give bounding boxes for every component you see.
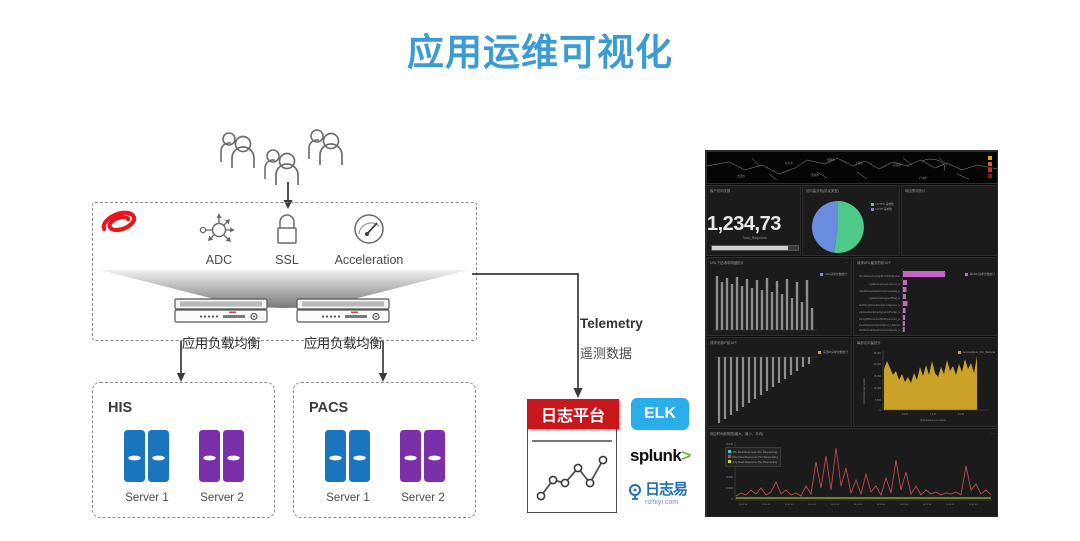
- zone-title-his: HIS: [108, 400, 132, 416]
- rizhiyi-logo: 日志易 rizhiyi.com: [628, 478, 687, 506]
- rack-appliance-icon: [295, 298, 391, 326]
- total-requests-sublabel: Total_Requests: [707, 236, 802, 240]
- svg-text:14:00:00: 14:00:00: [808, 504, 817, 506]
- server-pair-icon: [121, 428, 173, 484]
- svg-text:上海市: 上海市: [855, 161, 863, 165]
- padlock-icon: [272, 212, 302, 246]
- panel-scrollbar[interactable]: [711, 245, 799, 251]
- svg-text:/hdsAPI/restful/web/script/met: /hdsAPI/restful/web/script/metadata_js: [859, 290, 900, 293]
- traffic-area-panel[interactable]: 每秒访问量统计 25,00020,000 15,00010,000 5,0000…: [853, 337, 998, 427]
- top-uri-bar-panel[interactable]: 请求URL最多的前10个 /hdsAPI/restful/web/config/…: [853, 257, 998, 336]
- total-requests-value: 1,234,73: [707, 213, 802, 236]
- svg-text:13:45:00: 13:45:00: [739, 504, 748, 506]
- legend-item[interactable]: Connections_Per_Second: [958, 350, 995, 354]
- svg-text:14:35:00: 14:35:00: [969, 504, 978, 506]
- panel-title: 请求来源IP前10个: [710, 340, 737, 345]
- rizhiyi-label: 日志易: [645, 478, 687, 499]
- legend-item[interactable]: HTTPS 请求数: [871, 202, 894, 206]
- arrow-edge-to-pacs: [375, 341, 391, 383]
- panel-title: 访问量分布(协议类型): [806, 188, 839, 193]
- panel-title: 响应时间趋势图(最大、最小、平均): [710, 431, 763, 436]
- svg-text:/hdsAPI/restful/web/config/BUS: /hdsAPI/restful/web/config/BUSTEP/discov…: [859, 275, 900, 278]
- telemetry-label-en: Telemetry: [580, 316, 643, 331]
- user-group-left: [218, 130, 264, 170]
- rizhiyi-mark-icon: [628, 484, 643, 500]
- svg-text:/cgi/External/Login/APIflag_js: /cgi/External/Login/APIflag_js: [869, 297, 901, 300]
- legend-swatch: [728, 450, 731, 453]
- panel-title: URL下钻请求明细统计: [710, 260, 744, 265]
- client-ip-panel[interactable]: 请求来源IP前10个 来源IP请求次数统计: [706, 337, 852, 427]
- svg-text:50000: 50000: [726, 443, 734, 446]
- page-title: 应用运维可视化: [0, 22, 1080, 76]
- svg-text:14:15: 14:15: [930, 413, 937, 416]
- server-group-pacs-1: Server 1: [314, 428, 382, 504]
- traffic-area-chart[interactable]: 25,00020,000 15,00010,000 5,0000 Connect…: [857, 347, 997, 425]
- panel-menu-icon[interactable]: ⋯: [844, 260, 848, 265]
- top-uri-chart[interactable]: [902, 269, 956, 333]
- svg-text:14:30: 14:30: [958, 413, 965, 416]
- log-platform-badge[interactable]: 日志平台: [527, 399, 619, 429]
- svg-text:武汉市: 武汉市: [893, 163, 901, 167]
- panel-title: 客户访问次数: [710, 188, 730, 193]
- svg-text:Connections per second: Connections per second: [863, 377, 866, 403]
- svg-text:@timestamp per minute: @timestamp per minute: [920, 419, 946, 422]
- zone-title-pacs: PACS: [309, 400, 348, 416]
- svg-text:14:25:00: 14:25:00: [923, 504, 932, 506]
- rizhiyi-domain: rizhiyi.com: [645, 499, 687, 506]
- server-group-his-1: Server 1: [113, 428, 181, 504]
- server-pair-icon: [196, 428, 248, 484]
- panel-title: 请求URL最多的前10个: [857, 260, 891, 265]
- legend-label: Connections_Per_Second: [963, 350, 996, 354]
- server-label: Server 1: [113, 492, 181, 504]
- svg-text:北京市: 北京市: [785, 161, 793, 165]
- server-label: Server 2: [188, 492, 256, 504]
- svg-text:13:55:00: 13:55:00: [785, 504, 794, 506]
- svg-text:14:15:00: 14:15:00: [877, 504, 886, 506]
- legend-swatch: [958, 351, 961, 354]
- svg-text:广州市: 广州市: [919, 176, 927, 180]
- legend-label: URL请求次数统计: [825, 272, 847, 276]
- radware-swirl-logo: [97, 206, 141, 245]
- adc-node-arrows-icon: [199, 212, 239, 246]
- svg-text:沈阳市: 沈阳市: [827, 158, 835, 162]
- legend-item[interactable]: Max Real Response Per Requesting: [728, 455, 778, 459]
- pie-chart[interactable]: [810, 199, 866, 255]
- svg-text:15,000: 15,000: [874, 375, 882, 378]
- legend-swatch: [871, 208, 874, 211]
- splunk-label: splunk: [630, 446, 681, 465]
- total-requests-panel[interactable]: 客户访问次数 1,234,73 Total_Requests: [706, 185, 801, 256]
- svg-text:/hdsAPI/restful/web/script/web: /hdsAPI/restful/web/script/webtype/List/…: [859, 311, 901, 314]
- legend-label: 每URL请求次数统计: [970, 272, 995, 276]
- elk-badge[interactable]: ELK: [631, 398, 689, 430]
- server-pair-icon: [397, 428, 449, 484]
- server-pair-icon: [322, 428, 374, 484]
- legend-swatch: [871, 203, 874, 206]
- svg-text:/hdsAPI/restful/web/script/con: /hdsAPI/restful/web/script/config/site_j…: [859, 329, 901, 332]
- legend-label: Min Real Response Per Requesting: [733, 450, 777, 454]
- legend-item[interactable]: URL请求次数统计: [820, 272, 847, 276]
- telemetry-label-cn: 遥测数据: [580, 343, 632, 362]
- svg-text:/cgi/External/Login/access_js: /cgi/External/Login/access_js: [869, 283, 901, 286]
- server-label: Server 2: [389, 492, 457, 504]
- request-ratio-pie-panel[interactable]: 访问量分布(协议类型) HTTPS 请求数 HTTP 请求数: [802, 185, 900, 256]
- svg-text:25,000: 25,000: [874, 352, 882, 355]
- svg-text:14:10:00: 14:10:00: [854, 504, 863, 506]
- legend-swatch: [965, 273, 968, 276]
- panel-title: 响应情况统计: [905, 188, 925, 193]
- monitoring-dashboard[interactable]: 大连市北京市 济南市沈阳市 上海市武汉市 广州市 客户访问次数 1,234,73…: [705, 150, 998, 517]
- url-distribution-panel[interactable]: URL下钻请求明细统计 ⋯ URL请求次数统计: [706, 257, 852, 336]
- svg-text:0: 0: [732, 498, 734, 501]
- line-chart-window-icon: [527, 427, 617, 513]
- service-acceleration: Acceleration: [321, 212, 417, 267]
- panel-menu-icon[interactable]: ⋯: [991, 431, 995, 436]
- legend-item[interactable]: Avg Real Response Per Requesting: [728, 460, 778, 464]
- server-group-pacs-2: Server 2: [389, 428, 457, 504]
- panel-title: 每秒访问量统计: [857, 340, 881, 345]
- rack-appliance-icon: [173, 298, 269, 326]
- client-ip-chart[interactable]: [713, 349, 819, 425]
- server-label: Server 1: [314, 492, 382, 504]
- legend-swatch: [728, 460, 731, 463]
- speedometer-gauge-icon: [352, 212, 386, 246]
- svg-text:13:50:00: 13:50:00: [762, 504, 771, 506]
- legend-label: 来源IP请求次数统计: [823, 350, 848, 354]
- service-label: Acceleration: [321, 253, 417, 267]
- traffic-funnel-shape: [98, 268, 470, 308]
- svg-text:/hdsAPI/restful/web/family/BPR: /hdsAPI/restful/web/family/BPResource/BO…: [859, 318, 901, 321]
- svg-text:20,000: 20,000: [874, 363, 882, 366]
- svg-text:/hdsAPI/restful/web/script/con: /hdsAPI/restful/web/script/config/index_…: [859, 304, 901, 307]
- svg-text:14:00: 14:00: [902, 413, 909, 416]
- legend-label: Avg Real Response Per Requesting: [733, 460, 778, 464]
- user-group-right: [306, 127, 352, 167]
- telemetry-connector: [470, 268, 590, 400]
- user-group-center: [262, 147, 308, 187]
- splunk-chevron-icon: >: [681, 446, 690, 465]
- legend-item[interactable]: 来源IP请求次数统计: [818, 350, 848, 354]
- svg-text:0: 0: [880, 409, 882, 412]
- svg-text:14:05:00: 14:05:00: [831, 504, 840, 506]
- geo-map-panel[interactable]: 大连市北京市 济南市沈阳市 上海市武汉市 广州市: [706, 151, 998, 184]
- svg-text:10000: 10000: [726, 487, 734, 490]
- url-distribution-chart[interactable]: [711, 268, 819, 334]
- legend-label: HTTP 请求数: [876, 207, 892, 211]
- empty-right-panel[interactable]: 响应情况统计: [901, 185, 998, 256]
- legend-label: HTTPS 请求数: [876, 202, 894, 206]
- legend-swatch: [728, 455, 731, 458]
- svg-text:20000: 20000: [726, 476, 734, 479]
- arrow-edge-to-his: [173, 341, 189, 383]
- legend-swatch: [820, 273, 823, 276]
- legend-swatch: [818, 351, 821, 354]
- legend-label: Max Real Response Per Requesting: [733, 455, 778, 459]
- legend-item[interactable]: 每URL请求次数统计: [965, 272, 995, 276]
- legend-item[interactable]: HTTP 请求数: [871, 207, 894, 211]
- svg-text:14:30:00: 14:30:00: [946, 504, 955, 506]
- svg-text:济南市: 济南市: [811, 173, 819, 177]
- svg-text:10,000: 10,000: [874, 387, 882, 390]
- svg-text:5,000: 5,000: [875, 399, 882, 402]
- svg-text:/hdsAPI/restful/web/script/con: /hdsAPI/restful/web/script/config/res_fo…: [859, 324, 901, 327]
- svg-text:大连市: 大连市: [737, 174, 745, 178]
- response-time-line-panel[interactable]: 响应时间趋势图(最大、最小、平均) ⋯ 5000040000 300002000…: [706, 428, 998, 517]
- svg-text:14:20:00: 14:20:00: [900, 504, 909, 506]
- legend-item[interactable]: Min Real Response Per Requesting: [728, 450, 778, 454]
- splunk-logo: splunk>: [630, 446, 691, 466]
- server-group-his-2: Server 2: [188, 428, 256, 504]
